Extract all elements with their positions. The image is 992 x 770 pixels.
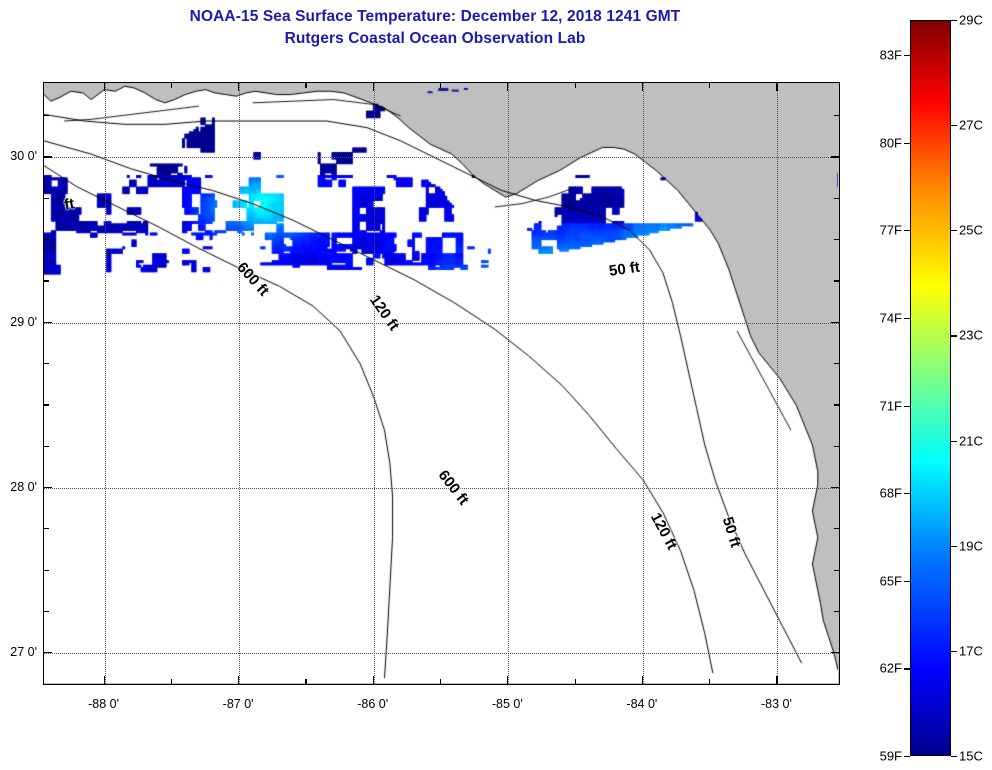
axis-tick-minor xyxy=(709,679,710,684)
axis-tick xyxy=(507,83,508,91)
colorbar-label-celsius: 29C xyxy=(959,13,983,28)
axis-tick xyxy=(831,487,839,488)
axis-tick-minor xyxy=(305,83,306,88)
colorbar-tick-fahrenheit xyxy=(904,318,910,319)
title-line-2: Rutgers Coastal Ocean Observation Lab xyxy=(0,28,870,50)
colorbar-label-celsius: 21C xyxy=(959,433,983,448)
axis-tick-minor xyxy=(834,611,839,612)
colorbar-label-celsius: 25C xyxy=(959,223,983,238)
axis-tick-minor xyxy=(834,528,839,529)
axis-tick xyxy=(642,676,643,684)
axis-tick-minor xyxy=(305,679,306,684)
y-axis-label: 30 0' xyxy=(10,149,37,163)
axis-tick-minor xyxy=(575,679,576,684)
axis-tick-minor xyxy=(834,198,839,199)
axis-tick xyxy=(104,83,105,91)
colorbar-tick-celsius xyxy=(951,125,957,126)
axis-tick-minor xyxy=(171,83,172,88)
x-axis-label: -86 0' xyxy=(357,697,388,711)
colorbar-tick-fahrenheit xyxy=(904,668,910,669)
axis-tick-minor xyxy=(834,363,839,364)
axis-tick xyxy=(776,676,777,684)
axis-tick-minor xyxy=(44,363,49,364)
colorbar-label-fahrenheit: 80F xyxy=(880,135,902,150)
x-axis-label: -87 0' xyxy=(223,697,254,711)
colorbar-tick-celsius xyxy=(951,20,957,21)
colorbar-label-celsius: 19C xyxy=(959,538,983,553)
colorbar-tick-fahrenheit xyxy=(904,230,910,231)
axis-tick xyxy=(373,676,374,684)
colorbar-tick-fahrenheit xyxy=(904,406,910,407)
sst-raster-layer xyxy=(44,83,838,683)
axis-tick xyxy=(44,156,52,157)
axis-tick-minor xyxy=(834,239,839,240)
colorbar-tick-fahrenheit xyxy=(904,756,910,757)
axis-tick-minor xyxy=(575,83,576,88)
colorbar-tick-celsius xyxy=(951,230,957,231)
axis-tick xyxy=(776,83,777,91)
title-line-1: NOAA-15 Sea Surface Temperature: Decembe… xyxy=(0,6,870,28)
y-axis-label: 28 0' xyxy=(10,480,37,494)
axis-tick-minor xyxy=(709,83,710,88)
axis-tick-minor xyxy=(44,239,49,240)
axis-tick-minor xyxy=(834,280,839,281)
axis-tick-minor xyxy=(44,115,49,116)
colorbar-label-celsius: 15C xyxy=(959,749,983,764)
figure-title: NOAA-15 Sea Surface Temperature: Decembe… xyxy=(0,6,870,50)
x-axis-label: -88 0' xyxy=(88,697,119,711)
colorbar-label-celsius: 27C xyxy=(959,118,983,133)
axis-tick-minor xyxy=(834,446,839,447)
axis-tick xyxy=(831,322,839,323)
axis-tick-minor xyxy=(44,570,49,571)
axis-tick-minor xyxy=(44,404,49,405)
y-axis-label: 29 0' xyxy=(10,315,37,329)
axis-tick-minor xyxy=(834,115,839,116)
colorbar-tick-fahrenheit xyxy=(904,143,910,144)
colorbar-tick-celsius xyxy=(951,441,957,442)
map-canvas-container: ft600 ft120 ft50 ft600 ft120 ft50 ft xyxy=(44,83,839,684)
colorbar-label-fahrenheit: 74F xyxy=(880,310,902,325)
colorbar-label-fahrenheit: 83F xyxy=(880,48,902,63)
axis-tick xyxy=(44,652,52,653)
axis-tick-minor xyxy=(440,83,441,88)
axis-tick-minor xyxy=(44,280,49,281)
axis-tick-minor xyxy=(440,679,441,684)
y-axis-label: 27 0' xyxy=(10,645,37,659)
axis-tick xyxy=(831,156,839,157)
axis-tick-minor xyxy=(171,679,172,684)
colorbar-label-celsius: 23C xyxy=(959,328,983,343)
axis-tick xyxy=(507,676,508,684)
axis-tick xyxy=(642,83,643,91)
axis-tick-minor xyxy=(834,570,839,571)
colorbar-tick-celsius xyxy=(951,756,957,757)
axis-tick-minor xyxy=(834,404,839,405)
map-plot-area[interactable]: ft600 ft120 ft50 ft600 ft120 ft50 ft xyxy=(43,82,840,685)
colorbar-tick-celsius xyxy=(951,335,957,336)
axis-tick xyxy=(238,83,239,91)
axis-tick-minor xyxy=(44,446,49,447)
colorbar-label-fahrenheit: 65F xyxy=(880,573,902,588)
axis-tick xyxy=(238,676,239,684)
axis-tick-minor xyxy=(44,528,49,529)
colorbar-tick-celsius xyxy=(951,651,957,652)
colorbar-label-fahrenheit: 77F xyxy=(880,223,902,238)
axis-tick xyxy=(44,322,52,323)
colorbar-gradient xyxy=(910,20,951,756)
colorbar[interactable]: 29C27C25C23C21C19C17C15C83F80F77F74F71F6… xyxy=(910,20,951,756)
colorbar-tick-fahrenheit xyxy=(904,493,910,494)
axis-tick-minor xyxy=(44,198,49,199)
colorbar-tick-celsius xyxy=(951,546,957,547)
axis-tick xyxy=(373,83,374,91)
colorbar-label-celsius: 17C xyxy=(959,643,983,658)
colorbar-tick-fahrenheit xyxy=(904,55,910,56)
x-axis-label: -84 0' xyxy=(626,697,657,711)
axis-tick xyxy=(44,487,52,488)
colorbar-label-fahrenheit: 68F xyxy=(880,486,902,501)
colorbar-label-fahrenheit: 59F xyxy=(880,749,902,764)
x-axis-label: -83 0' xyxy=(761,697,792,711)
axis-tick xyxy=(104,676,105,684)
axis-tick-minor xyxy=(44,611,49,612)
axis-tick xyxy=(831,652,839,653)
colorbar-label-fahrenheit: 62F xyxy=(880,661,902,676)
colorbar-label-fahrenheit: 71F xyxy=(880,398,902,413)
sst-map-figure: NOAA-15 Sea Surface Temperature: Decembe… xyxy=(0,0,992,770)
colorbar-tick-fahrenheit xyxy=(904,581,910,582)
x-axis-label: -85 0' xyxy=(492,697,523,711)
